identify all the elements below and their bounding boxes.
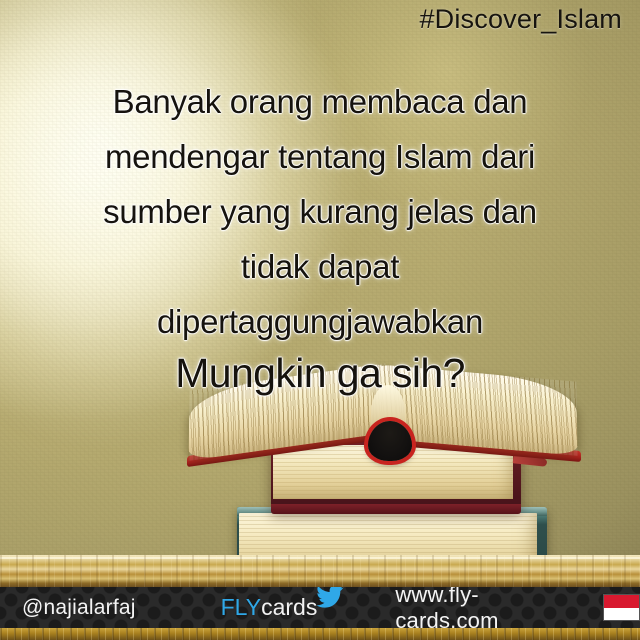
website-url[interactable]: www.fly-cards.com bbox=[395, 587, 574, 634]
quote-line-1: Banyak orang membaca dan bbox=[0, 74, 640, 129]
quote-line-4: tidak dapat bbox=[0, 239, 640, 294]
quote-line-5: dipertaggungjawabkan bbox=[0, 294, 640, 349]
quote-block: Banyak orang membaca dan mendengar tenta… bbox=[0, 74, 640, 397]
hashtag-label: #Discover_Islam bbox=[419, 4, 622, 35]
quote-line-3: sumber yang kurang jelas dan bbox=[0, 184, 640, 239]
wooden-table bbox=[0, 555, 640, 587]
footer-wood-strip bbox=[0, 628, 640, 640]
social-card: #Discover_Islam Banyak orang membaca dan… bbox=[0, 0, 640, 640]
red-book-bottom-cover bbox=[271, 504, 521, 514]
author-handle[interactable]: @najialarfaj bbox=[22, 596, 136, 620]
quote-line-2: mendengar tentang Islam dari bbox=[0, 129, 640, 184]
flycards-logo[interactable]: FLYcards bbox=[221, 594, 318, 621]
bird-icon bbox=[315, 587, 345, 609]
brand-fly-text: FLY bbox=[221, 594, 261, 620]
footer-bar: @najialarfaj FLYcards www.fly-cards.com bbox=[0, 587, 640, 640]
brand-cards-text: cards bbox=[261, 594, 317, 620]
indonesia-flag-icon bbox=[603, 594, 640, 621]
quote-line-6-emphasis: Mungkin ga sih? bbox=[0, 349, 640, 397]
